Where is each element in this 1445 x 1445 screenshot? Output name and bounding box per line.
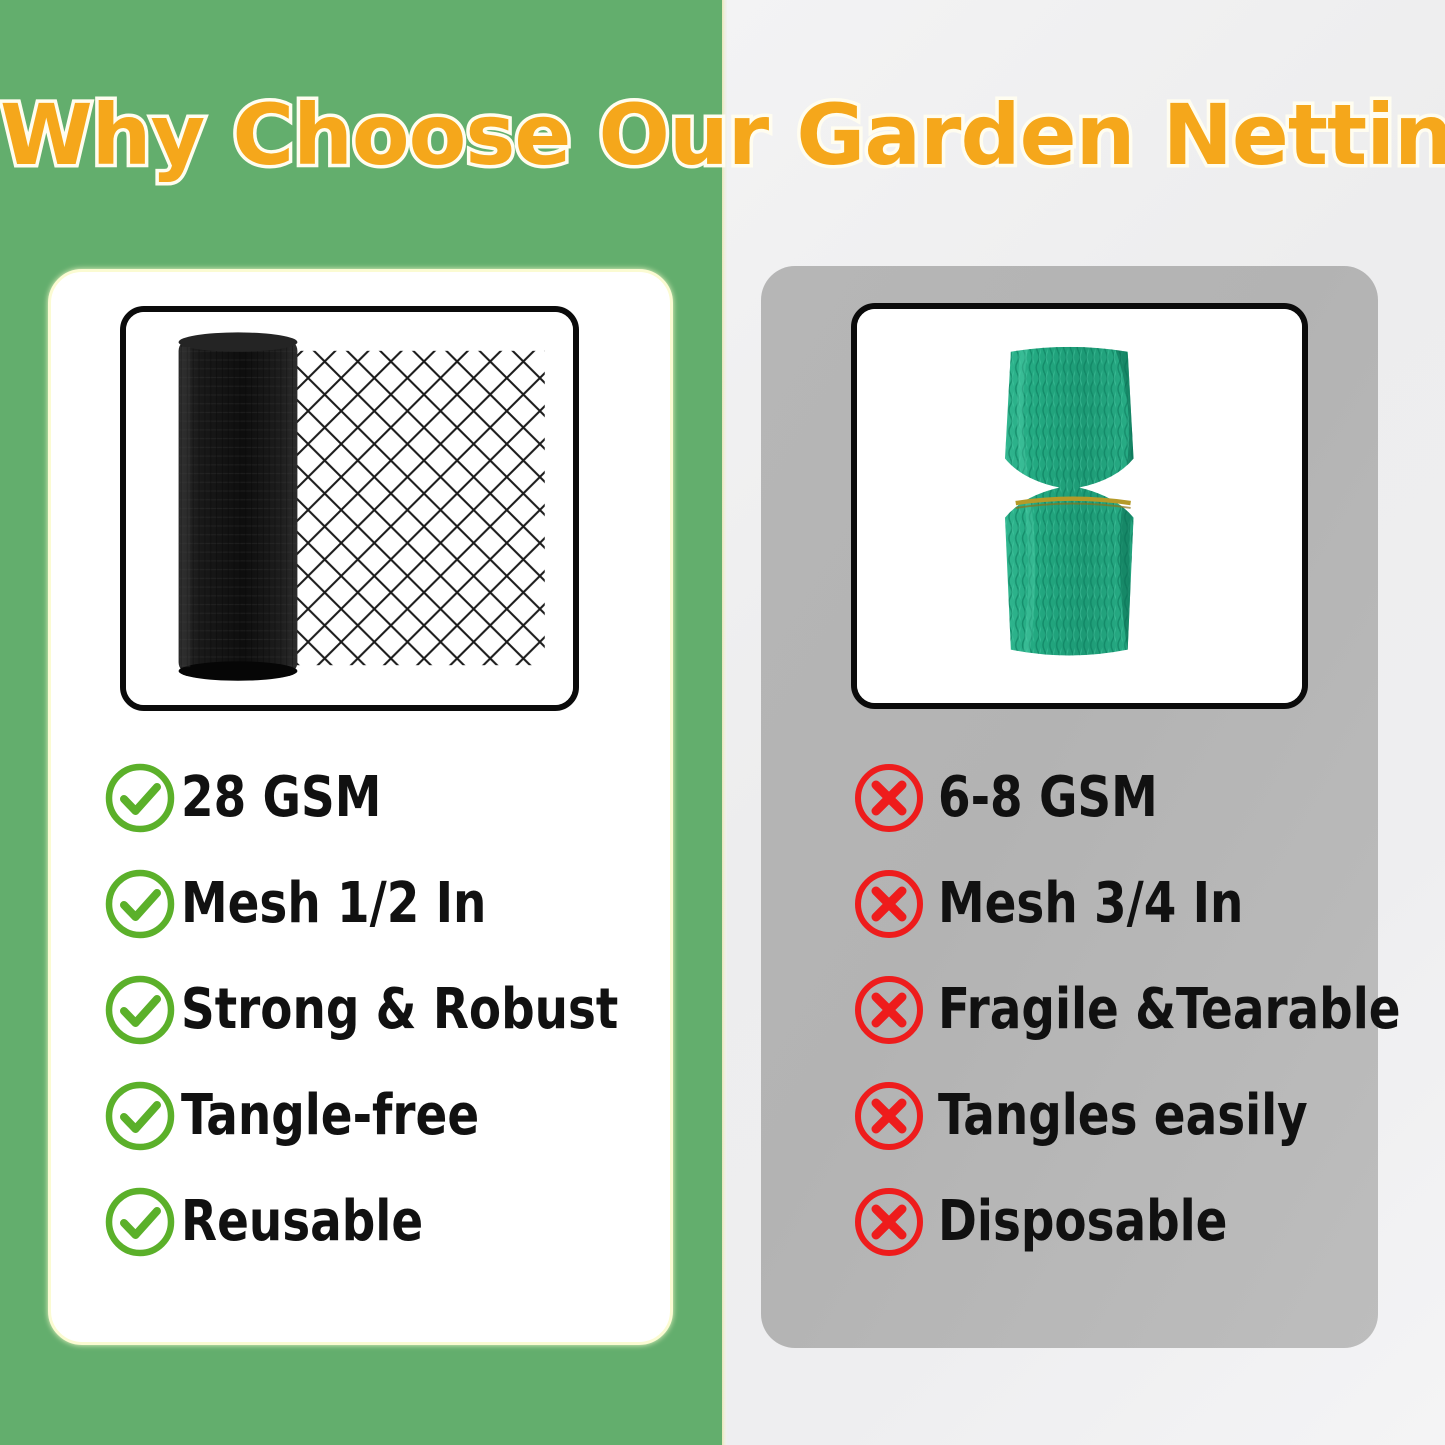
- list-item: 6-8 GSM: [852, 745, 1372, 851]
- competitor-feature-list: 6-8 GSM Mesh 3/4 In Fragile &Tearable Ta…: [852, 745, 1372, 1275]
- feature-label: Mesh 3/4 In: [938, 876, 1243, 932]
- page-title: Why Choose Our Garden Netting?: [0, 86, 1445, 184]
- cross-circle-icon: [852, 973, 926, 1047]
- check-circle-icon: [103, 761, 177, 835]
- feature-label: Disposable: [938, 1194, 1227, 1250]
- black-garden-netting-roll-photo: [126, 312, 573, 705]
- list-item: Strong & Robust: [103, 957, 663, 1063]
- feature-label: 6-8 GSM: [938, 770, 1158, 826]
- feature-label: Tangle-free: [181, 1088, 479, 1144]
- list-item: Disposable: [852, 1169, 1372, 1275]
- list-item: Mesh 3/4 In: [852, 851, 1372, 957]
- feature-label: Strong & Robust: [181, 982, 618, 1038]
- list-item: 28 GSM: [103, 745, 663, 851]
- cross-circle-icon: [852, 1079, 926, 1153]
- list-item: Fragile &Tearable: [852, 957, 1372, 1063]
- our-product-image-frame: [120, 306, 579, 711]
- list-item: Mesh 1/2 In: [103, 851, 663, 957]
- green-bundled-netting-photo: [857, 309, 1302, 703]
- feature-label: Reusable: [181, 1194, 423, 1250]
- cross-circle-icon: [852, 761, 926, 835]
- check-circle-icon: [103, 1079, 177, 1153]
- list-item: Tangles easily: [852, 1063, 1372, 1169]
- comparison-infographic: Why Choose Our Garden Netting?: [0, 0, 1445, 1445]
- cross-circle-icon: [852, 867, 926, 941]
- feature-label: Tangles easily: [938, 1088, 1308, 1144]
- competitor-product-image-frame: [851, 303, 1308, 709]
- check-circle-icon: [103, 973, 177, 1047]
- check-circle-icon: [103, 867, 177, 941]
- list-item: Tangle-free: [103, 1063, 663, 1169]
- our-product-feature-list: 28 GSM Mesh 1/2 In Strong & Robust Tangl…: [103, 745, 663, 1275]
- list-item: Reusable: [103, 1169, 663, 1275]
- check-circle-icon: [103, 1185, 177, 1259]
- cross-circle-icon: [852, 1185, 926, 1259]
- feature-label: Fragile &Tearable: [938, 982, 1401, 1038]
- feature-label: 28 GSM: [181, 770, 381, 826]
- feature-label: Mesh 1/2 In: [181, 876, 486, 932]
